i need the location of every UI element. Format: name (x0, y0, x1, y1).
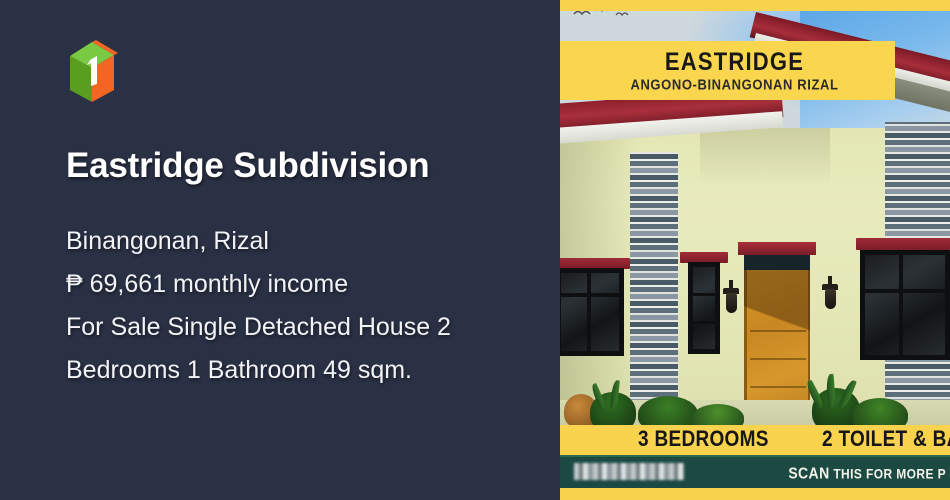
wall-upper-shading (700, 128, 830, 186)
window-right (860, 250, 950, 360)
window-left (560, 268, 624, 356)
scan-call-to-action: SCAN THIS FOR MORE P (788, 464, 946, 482)
property-listing-card: Eastridge Subdivision Binangonan, Rizal … (0, 0, 950, 500)
listing-description: For Sale Single Detached House 2 Bedroom… (66, 306, 556, 392)
window-lintel-right (856, 238, 950, 250)
page-title: Eastridge Subdivision (66, 146, 429, 186)
wall-sconce-left-icon (723, 280, 739, 314)
scan-lead-word: SCAN (788, 464, 829, 482)
blurred-logo-placeholder (574, 463, 684, 480)
scan-rest-text: THIS FOR MORE P (830, 466, 946, 482)
bottom-yellow-strip (560, 488, 950, 500)
listing-info-panel: Eastridge Subdivision Binangonan, Rizal … (0, 0, 560, 500)
door-transom (744, 255, 810, 270)
window-middle (688, 262, 720, 354)
listing-meta: Binangonan, Rizal ₱ 69,661 monthly incom… (66, 220, 536, 392)
wall-sconce-right-icon (822, 276, 838, 310)
door-lintel (738, 242, 816, 255)
flyer-banner-subtitle: Angono-Binangonan Rizal (630, 76, 838, 93)
one-house-logo[interactable] (66, 38, 128, 104)
flyer-banner-title: EASTRIDGE (665, 48, 804, 75)
flyer-feature-banner: 3 BEDROOMS 2 TOILET & BA (560, 425, 950, 455)
feature-toilet-bath: 2 TOILET & BA (822, 427, 950, 453)
flyer-top-banner: EASTRIDGE Angono-Binangonan Rizal (560, 41, 895, 100)
property-photo[interactable]: EASTRIDGE Angono-Binangonan Rizal 3 BEDR… (560, 0, 950, 500)
listing-income: ₱ 69,661 monthly income (66, 263, 536, 306)
feature-bedrooms: 3 BEDROOMS (638, 427, 769, 453)
flyer-scan-banner: SCAN THIS FOR MORE P (560, 455, 950, 488)
top-yellow-strip (560, 0, 950, 11)
stone-veneer-column-left (630, 152, 678, 432)
listing-location: Binangonan, Rizal (66, 220, 536, 263)
